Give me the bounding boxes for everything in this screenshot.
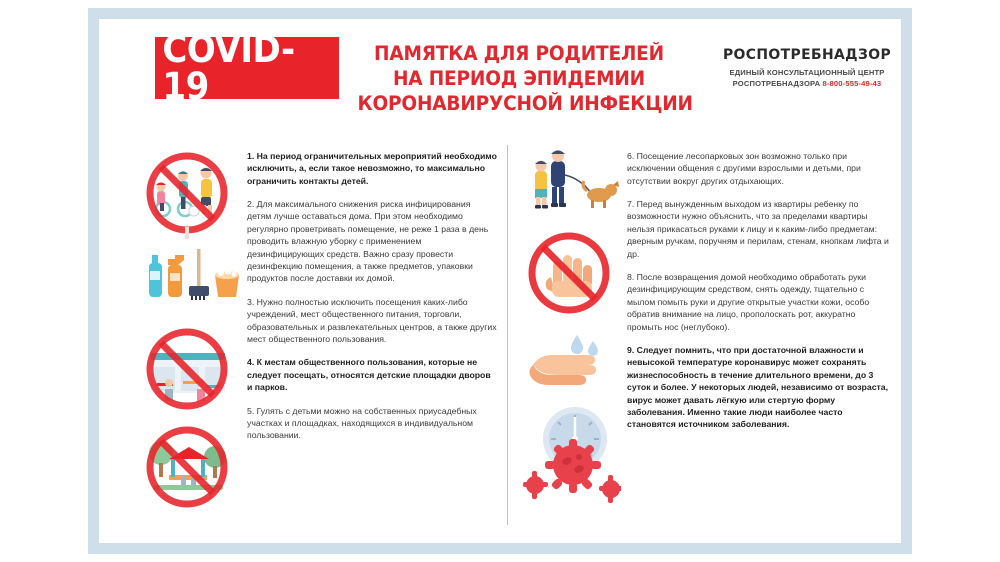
left-column: 1. На период ограничительных мероприятий… [135, 141, 503, 545]
advice-item-3: 3. Нужно полностью исключить посещения к… [247, 296, 497, 346]
left-column-text: 1. На период ограничительных мероприятий… [247, 141, 497, 545]
poster-body: 1. На период ограничительных мероприятий… [99, 141, 901, 545]
right-column: 6. Посещение лесопарковых зон возможно т… [517, 141, 889, 545]
virus-clock-icon [517, 399, 621, 509]
advice-item-5: 5. Гулять с детьми можно на собственных … [247, 405, 497, 442]
right-column-illustrations [517, 141, 621, 545]
cleaning-supplies-icon [135, 241, 239, 315]
column-divider [507, 145, 508, 525]
organization-subtitle-line-2: РОСПОТРЕБНАДЗОРА 8-800-555-49-43 [707, 79, 907, 90]
family-walking-dog-icon [517, 145, 621, 221]
page-title-line-2: НА ПЕРИОД ЭПИДЕМИИ [358, 66, 681, 91]
poster-content: COVID-19 ПАМЯТКА ДЛЯ РОДИТЕЛЕЙ НА ПЕРИОД… [99, 19, 901, 543]
poster-header: COVID-19 ПАМЯТКА ДЛЯ РОДИТЕЛЕЙ НА ПЕРИОД… [99, 19, 901, 141]
no-public-places-icon [135, 323, 239, 415]
page-title-line-1: ПАМЯТКА ДЛЯ РОДИТЕЛЕЙ [358, 41, 681, 66]
organization-logo: РОСПОТРЕБНАДЗОР ЕДИНЫЙ КОНСУЛЬТАЦИОННЫЙ … [707, 47, 907, 89]
covid-19-badge: COVID-19 [155, 37, 339, 99]
covid-19-badge-label: COVID-19 [162, 31, 331, 105]
advice-item-8: 8. После возвращения домой необходимо об… [627, 271, 889, 333]
no-playground-icon [135, 419, 239, 513]
advice-item-7: 7. Перед вынужденным выходом из квартиры… [627, 198, 889, 260]
page-title-line-3: КОРОНАВИРУСНОЙ ИНФЕКЦИИ [358, 91, 681, 116]
hotline-phone-number: 8-800-555-49-43 [822, 79, 881, 88]
poster-frame: COVID-19 ПАМЯТКА ДЛЯ РОДИТЕЛЕЙ НА ПЕРИОД… [88, 8, 912, 554]
page-title: ПАМЯТКА ДЛЯ РОДИТЕЛЕЙ НА ПЕРИОД ЭПИДЕМИИ… [349, 41, 689, 116]
organization-subtitle: ЕДИНЫЙ КОНСУЛЬТАЦИОННЫЙ ЦЕНТР РОСПОТРЕБН… [707, 68, 907, 89]
no-touching-hand-icon [517, 225, 621, 317]
advice-item-4: 4. К местам общественного пользования, к… [247, 356, 497, 393]
organization-subtitle-line-1: ЕДИНЫЙ КОНСУЛЬТАЦИОННЫЙ ЦЕНТР [707, 68, 907, 79]
advice-item-2: 2. Для максимального снижения риска инфи… [247, 198, 497, 285]
advice-item-9: 9. Следует помнить, что при достаточной … [627, 344, 889, 431]
right-column-text: 6. Посещение лесопарковых зон возможно т… [627, 141, 889, 545]
organization-subtitle-text: РОСПОТРЕБНАДЗОРА [733, 79, 821, 88]
no-children-playing-icon [135, 147, 239, 239]
organization-name: РОСПОТРЕБНАДЗОР [711, 47, 903, 63]
handwashing-icon [517, 325, 621, 397]
advice-item-6: 6. Посещение лесопарковых зон возможно т… [627, 150, 889, 187]
left-column-illustrations [135, 141, 239, 545]
advice-item-1: 1. На период ограничительных мероприятий… [247, 150, 497, 187]
